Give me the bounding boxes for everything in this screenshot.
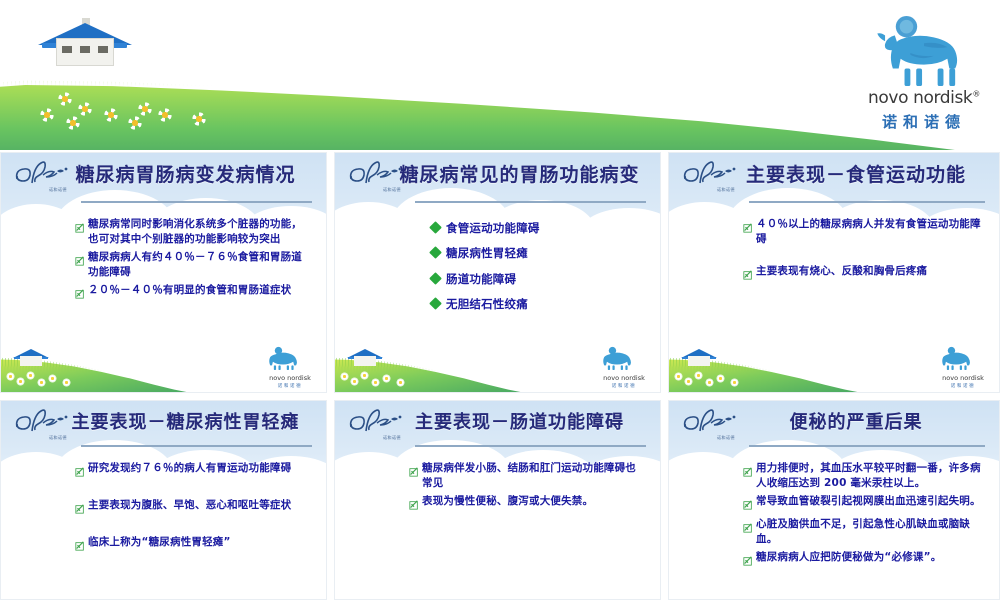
signature-subtext: 诺和诺德 <box>49 435 67 441</box>
check-bullet-icon <box>743 494 754 514</box>
house-icon <box>38 18 130 66</box>
title-divider <box>415 201 646 203</box>
bullet-item: ４０％以上的糖尿病病人并发有食管运动功能障碍 <box>743 217 983 247</box>
check-bullet-icon <box>75 535 86 555</box>
check-bullet-icon <box>743 461 754 481</box>
novo-nordisk-logo-small: novo nordisk 诺和诺德 <box>598 346 650 386</box>
slide-title: 主要表现－糖尿病性胃轻瘫 <box>55 413 316 433</box>
signature-subtext: 诺和诺德 <box>383 187 401 193</box>
bullet-text: 用力排便时，其血压水平较平时翻一番，许多病人收缩压达到 200 毫米汞柱以上。 <box>756 461 983 491</box>
header-banner: novo nordisk® 诺和诺德 <box>0 0 1000 150</box>
bullet-text: 研究发现约７６％的病人有胃运动功能障碍 <box>88 461 291 476</box>
bullet-text: 肠道功能障碍 <box>446 268 516 290</box>
slide-thumbnail-3[interactable]: 诺和诺德 主要表现－食管运动功能 ４０％以上的糖尿病病人并发有食管运动功能障碍 … <box>668 152 1000 393</box>
bullet-item: 心脏及脑供血不足，引起急性心肌缺血或脑缺血。 <box>743 517 983 547</box>
slide-footer: novo nordisk 诺和诺德 <box>335 336 660 392</box>
diamond-bullet-icon <box>429 272 442 285</box>
bullet-item: 用力排便时，其血压水平较平时翻一番，许多病人收缩压达到 200 毫米汞柱以上。 <box>743 461 983 491</box>
check-bullet-icon <box>409 494 420 514</box>
house-icon <box>347 348 383 366</box>
diamond-bullet-icon <box>429 247 442 260</box>
bullet-item: 表现为慢性便秘、腹泻或大便失禁。 <box>409 494 644 514</box>
slide-bullet-list: 糖尿病常同时影响消化系统多个脏器的功能，也可对其中个别脏器的功能影响较为突出 糖… <box>75 217 310 306</box>
bullet-text: 主要表现有烧心、反酸和胸骨后疼痛 <box>756 264 927 279</box>
brand-chinese-name: 诺和诺德 <box>862 111 986 132</box>
bullet-item: 无胆结石性绞痛 <box>431 293 644 315</box>
bullet-item: 研究发现约７６％的病人有胃运动功能障碍 <box>75 461 310 481</box>
brand-wordmark: novo nordisk® <box>862 90 986 107</box>
check-bullet-icon <box>743 550 754 570</box>
title-divider <box>81 201 312 203</box>
slide-thumbnail-4[interactable]: 诺和诺德 主要表现－糖尿病性胃轻瘫 研究发现约７６％的病人有胃运动功能障碍 主要… <box>0 400 327 600</box>
check-bullet-icon <box>409 461 420 481</box>
slide-thumbnail-6[interactable]: 诺和诺德 便秘的严重后果 用力排便时，其血压水平较平时翻一番，许多病人收缩压达到… <box>668 400 1000 600</box>
bullet-text: 心脏及脑供血不足，引起急性心肌缺血或脑缺血。 <box>756 517 983 547</box>
slide-title: 主要表现－肠道功能障碍 <box>389 413 650 433</box>
brand-wordmark-small: novo nordisk <box>598 375 650 382</box>
apis-bull-icon <box>862 14 986 88</box>
slide-footer: novo nordisk 诺和诺德 <box>1 336 326 392</box>
house-icon <box>13 348 49 366</box>
diamond-bullet-icon <box>429 297 442 310</box>
title-divider <box>415 445 646 447</box>
bullet-item: 糖尿病病人应把防便秘做为“必修课”。 <box>743 550 983 570</box>
signature-subtext: 诺和诺德 <box>383 435 401 441</box>
daisy-flowers-icon <box>5 368 101 388</box>
bullet-text: 糖尿病病人有约４０％－７６％食管和胃肠道功能障碍 <box>88 250 310 280</box>
slide-bullet-list: 用力排便时，其血压水平较平时翻一番，许多病人收缩压达到 200 毫米汞柱以上。 … <box>743 461 983 573</box>
check-bullet-icon <box>75 217 86 237</box>
slide-footer: novo nordisk 诺和诺德 <box>669 336 999 392</box>
bullet-item: 糖尿病病人有约４０％－７６％食管和胃肠道功能障碍 <box>75 250 310 280</box>
slide-bullet-list: ４０％以上的糖尿病病人并发有食管运动功能障碍 主要表现有烧心、反酸和胸骨后疼痛 <box>743 217 983 287</box>
bullet-text: 常导致血管破裂引起视网膜出血迅速引起失明。 <box>756 494 981 509</box>
signature-subtext: 诺和诺德 <box>49 187 67 193</box>
bullet-text: 食管运动功能障碍 <box>446 217 540 239</box>
presentation-page: novo nordisk® 诺和诺德 <box>0 0 1000 600</box>
bullet-text: 无胆结石性绞痛 <box>446 293 528 315</box>
slide-title: 糖尿病常见的胃肠功能病变 <box>389 165 650 186</box>
bullet-item: 糖尿病伴发小肠、结肠和肛门运动功能障碍也常见 <box>409 461 644 491</box>
slide-thumbnail-1[interactable]: 诺和诺德 糖尿病胃肠病变发病情况 糖尿病常同时影响消化系统多个脏器的功能，也可对… <box>0 152 327 393</box>
bullet-text: 糖尿病病人应把防便秘做为“必修课”。 <box>756 550 941 565</box>
brand-chinese-small: 诺和诺德 <box>598 383 650 389</box>
slide-thumbnail-5[interactable]: 诺和诺德 主要表现－肠道功能障碍 糖尿病伴发小肠、结肠和肛门运动功能障碍也常见 … <box>334 400 661 600</box>
slide-bullet-list: 研究发现约７６％的病人有胃运动功能障碍 主要表现为腹胀、早饱、恶心和呕吐等症状 … <box>75 461 310 558</box>
bullet-text: 主要表现为腹胀、早饱、恶心和呕吐等症状 <box>88 498 291 513</box>
signature-subtext: 诺和诺德 <box>717 435 735 441</box>
bullet-item: 糖尿病常同时影响消化系统多个脏器的功能，也可对其中个别脏器的功能影响较为突出 <box>75 217 310 247</box>
daisy-flowers-icon <box>339 368 435 388</box>
brand-wordmark-small: novo nordisk <box>264 375 316 382</box>
novo-nordisk-logo: novo nordisk® 诺和诺德 <box>862 14 986 132</box>
check-bullet-icon <box>743 264 754 284</box>
check-bullet-icon <box>75 498 86 518</box>
daisy-flowers-icon <box>673 368 769 388</box>
slide-title: 糖尿病胃肠病变发病情况 <box>55 165 316 186</box>
daisy-flowers-icon <box>30 84 250 134</box>
title-divider <box>81 445 312 447</box>
diamond-bullet-icon <box>429 221 442 234</box>
bullet-text: 糖尿病性胃轻瘫 <box>446 242 528 264</box>
bullet-text: 临床上称为“糖尿病性胃轻瘫” <box>88 535 231 550</box>
title-divider <box>749 201 985 203</box>
novo-nordisk-logo-small: novo nordisk 诺和诺德 <box>937 346 989 386</box>
bullet-item: 肠道功能障碍 <box>431 268 644 290</box>
bullet-item: ２０％－４０％有明显的食管和胃肠道症状 <box>75 283 310 303</box>
house-icon <box>681 348 717 366</box>
slide-grid: 诺和诺德 糖尿病胃肠病变发病情况 糖尿病常同时影响消化系统多个脏器的功能，也可对… <box>0 152 1000 600</box>
bullet-item: 食管运动功能障碍 <box>431 217 644 239</box>
slide-bullet-list: 糖尿病伴发小肠、结肠和肛门运动功能障碍也常见 表现为慢性便秘、腹泻或大便失禁。 <box>409 461 644 517</box>
bullet-item: 临床上称为“糖尿病性胃轻瘫” <box>75 535 310 555</box>
brand-wordmark-small: novo nordisk <box>937 375 989 382</box>
title-divider <box>749 445 985 447</box>
check-bullet-icon <box>743 517 754 537</box>
slide-thumbnail-2[interactable]: 诺和诺德 糖尿病常见的胃肠功能病变 食管运动功能障碍 糖尿病性胃轻瘫 肠道功能障… <box>334 152 661 393</box>
bullet-text: 表现为慢性便秘、腹泻或大便失禁。 <box>422 494 593 509</box>
bullet-text: 糖尿病常同时影响消化系统多个脏器的功能，也可对其中个别脏器的功能影响较为突出 <box>88 217 310 247</box>
brand-chinese-small: 诺和诺德 <box>264 383 316 389</box>
check-bullet-icon <box>75 250 86 270</box>
slide-title: 主要表现－食管运动功能 <box>723 165 989 186</box>
bullet-item: 主要表现为腹胀、早饱、恶心和呕吐等症状 <box>75 498 310 518</box>
check-bullet-icon <box>75 283 86 303</box>
brand-chinese-small: 诺和诺德 <box>937 383 989 389</box>
bullet-item: 常导致血管破裂引起视网膜出血迅速引起失明。 <box>743 494 983 514</box>
bullet-text: 糖尿病伴发小肠、结肠和肛门运动功能障碍也常见 <box>422 461 644 491</box>
slide-title: 便秘的严重后果 <box>723 413 989 433</box>
bullet-text: ４０％以上的糖尿病病人并发有食管运动功能障碍 <box>756 217 983 247</box>
bullet-item: 主要表现有烧心、反酸和胸骨后疼痛 <box>743 264 983 284</box>
novo-nordisk-logo-small: novo nordisk 诺和诺德 <box>264 346 316 386</box>
bullet-item: 糖尿病性胃轻瘫 <box>431 242 644 264</box>
bullet-text: ２０％－４０％有明显的食管和胃肠道症状 <box>88 283 291 298</box>
check-bullet-icon <box>75 461 86 481</box>
check-bullet-icon <box>743 217 754 237</box>
slide-bullet-list: 食管运动功能障碍 糖尿病性胃轻瘫 肠道功能障碍 无胆结石性绞痛 <box>431 217 644 319</box>
signature-subtext: 诺和诺德 <box>717 187 735 193</box>
